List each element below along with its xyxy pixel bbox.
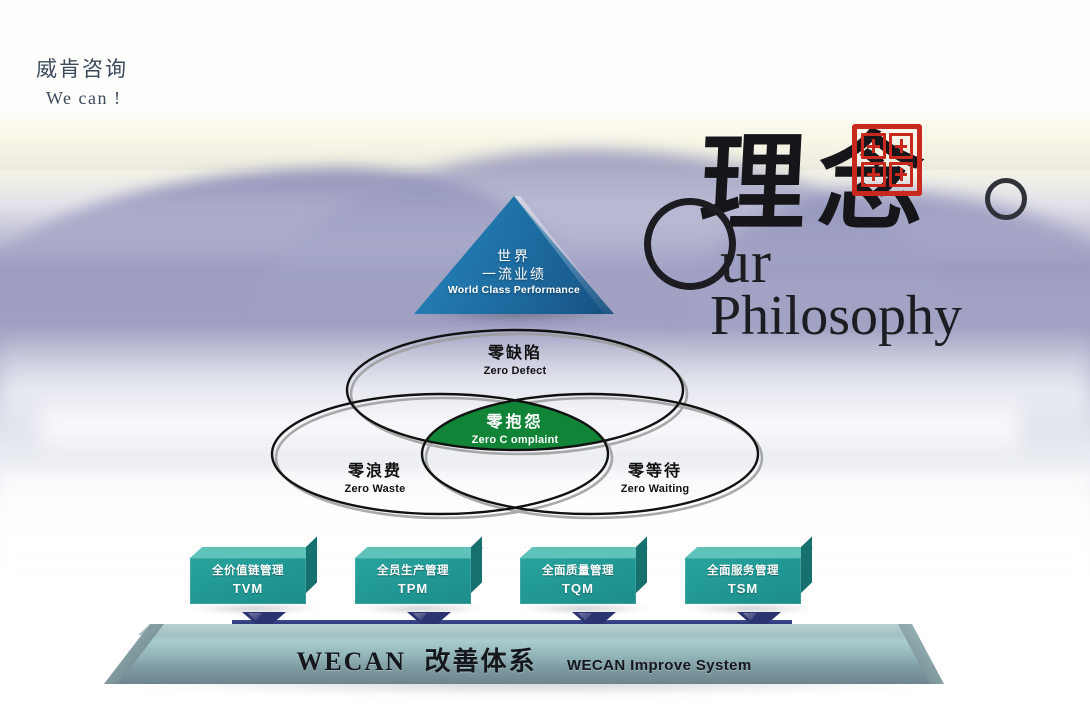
pyramid-label: 世界 一流业绩 World Class Performance (414, 248, 614, 297)
pillar-box-label: 全员生产管理 TPM (355, 563, 471, 599)
slide-canvas: 威肯咨询 We can ! 理念 ur Philosophy 世界 一流业绩 W… (0, 0, 1090, 727)
venn-label-zero-defect-cn: 零缺陷 (415, 344, 615, 364)
pillar-box-side-face (801, 536, 812, 593)
pillar-box-label: 全面服务管理 TSM (685, 563, 801, 599)
pyramid-label-cn1: 世界 (414, 248, 614, 265)
brand-name-cn: 威肯咨询 (36, 53, 128, 83)
pillar-box-label-cn: 全面服务管理 (685, 563, 801, 579)
venn-label-zero-waste: 零浪费 Zero Waste (285, 462, 465, 497)
venn-label-zero-complaint-cn: 零抱怨 (425, 413, 605, 433)
venn-label-zero-waste-en: Zero Waste (285, 482, 465, 497)
pillar-box-top-face (355, 547, 483, 558)
pillar-box-top-face (190, 547, 318, 558)
pyramid-vision: 世界 一流业绩 World Class Performance (414, 196, 614, 322)
pillar-box-side-face (471, 536, 482, 593)
pillar-box-label: 全价值链管理 TVM (190, 563, 306, 599)
foundation-label-cn: 改善体系 (424, 647, 536, 676)
pillar-box-label-en: TSM (685, 579, 801, 599)
pillar-box-label-en: TVM (190, 579, 306, 599)
pillar-box-label-en: TQM (520, 579, 636, 599)
foundation-label-en: WECAN Improve System (567, 657, 752, 674)
venn-label-zero-complaint-en: Zero C omplaint (425, 433, 605, 448)
pyramid-label-cn2: 一流业绩 (414, 265, 614, 283)
pillar-box-label-cn: 全员生产管理 (355, 563, 471, 579)
red-seal-icon (852, 124, 922, 196)
pillar-box-tpm[interactable]: 全员生产管理 TPM (355, 558, 471, 604)
pillar-box-side-face (306, 536, 317, 593)
degree-circle-icon (985, 178, 1027, 220)
pillar-box-group: 全价值链管理 TVM 全员生产管理 TPM 全面质量管理 TQM (190, 548, 850, 610)
venn-label-zero-complaint: 零抱怨 Zero C omplaint (425, 413, 605, 448)
venn-label-zero-waiting-cn: 零等待 (565, 462, 745, 482)
pillar-box-top-face (685, 547, 813, 558)
pillar-box-tsm[interactable]: 全面服务管理 TSM (685, 558, 801, 604)
venn-label-zero-waste-cn: 零浪费 (285, 462, 465, 482)
pillar-box-side-face (636, 536, 647, 593)
pillar-box-label-cn: 全面质量管理 (520, 563, 636, 579)
foundation-bar-top-bevel (104, 624, 944, 635)
pillar-box-label-cn: 全价值链管理 (190, 563, 306, 579)
pillar-box-tvm[interactable]: 全价值链管理 TVM (190, 558, 306, 604)
pillar-box-label-en: TPM (355, 579, 471, 599)
page-title: 理念 ur Philosophy (640, 120, 1080, 345)
pyramid-label-en: World Class Performance (414, 283, 614, 297)
foundation-bar-label: WECAN 改善体系 WECAN Improve System (104, 641, 944, 678)
pillar-box-label: 全面质量管理 TQM (520, 563, 636, 599)
slide-header: 威肯咨询 We can ! (0, 0, 1090, 119)
foundation-brand: WECAN (296, 647, 406, 676)
venn-label-zero-defect: 零缺陷 Zero Defect (415, 344, 615, 379)
page-title-our: ur (720, 232, 772, 292)
venn-label-zero-waiting-en: Zero Waiting (565, 482, 745, 497)
venn-label-zero-defect-en: Zero Defect (415, 364, 615, 379)
pillar-box-top-face (520, 547, 648, 558)
brand-slogan-en: We can ! (46, 88, 122, 109)
pillar-box-tqm[interactable]: 全面质量管理 TQM (520, 558, 636, 604)
venn-diagram: 零缺陷 Zero Defect 零浪费 Zero Waste 零等待 Zero … (255, 322, 775, 542)
venn-label-zero-waiting: 零等待 Zero Waiting (565, 462, 745, 497)
foundation-bar: WECAN 改善体系 WECAN Improve System (104, 624, 944, 692)
